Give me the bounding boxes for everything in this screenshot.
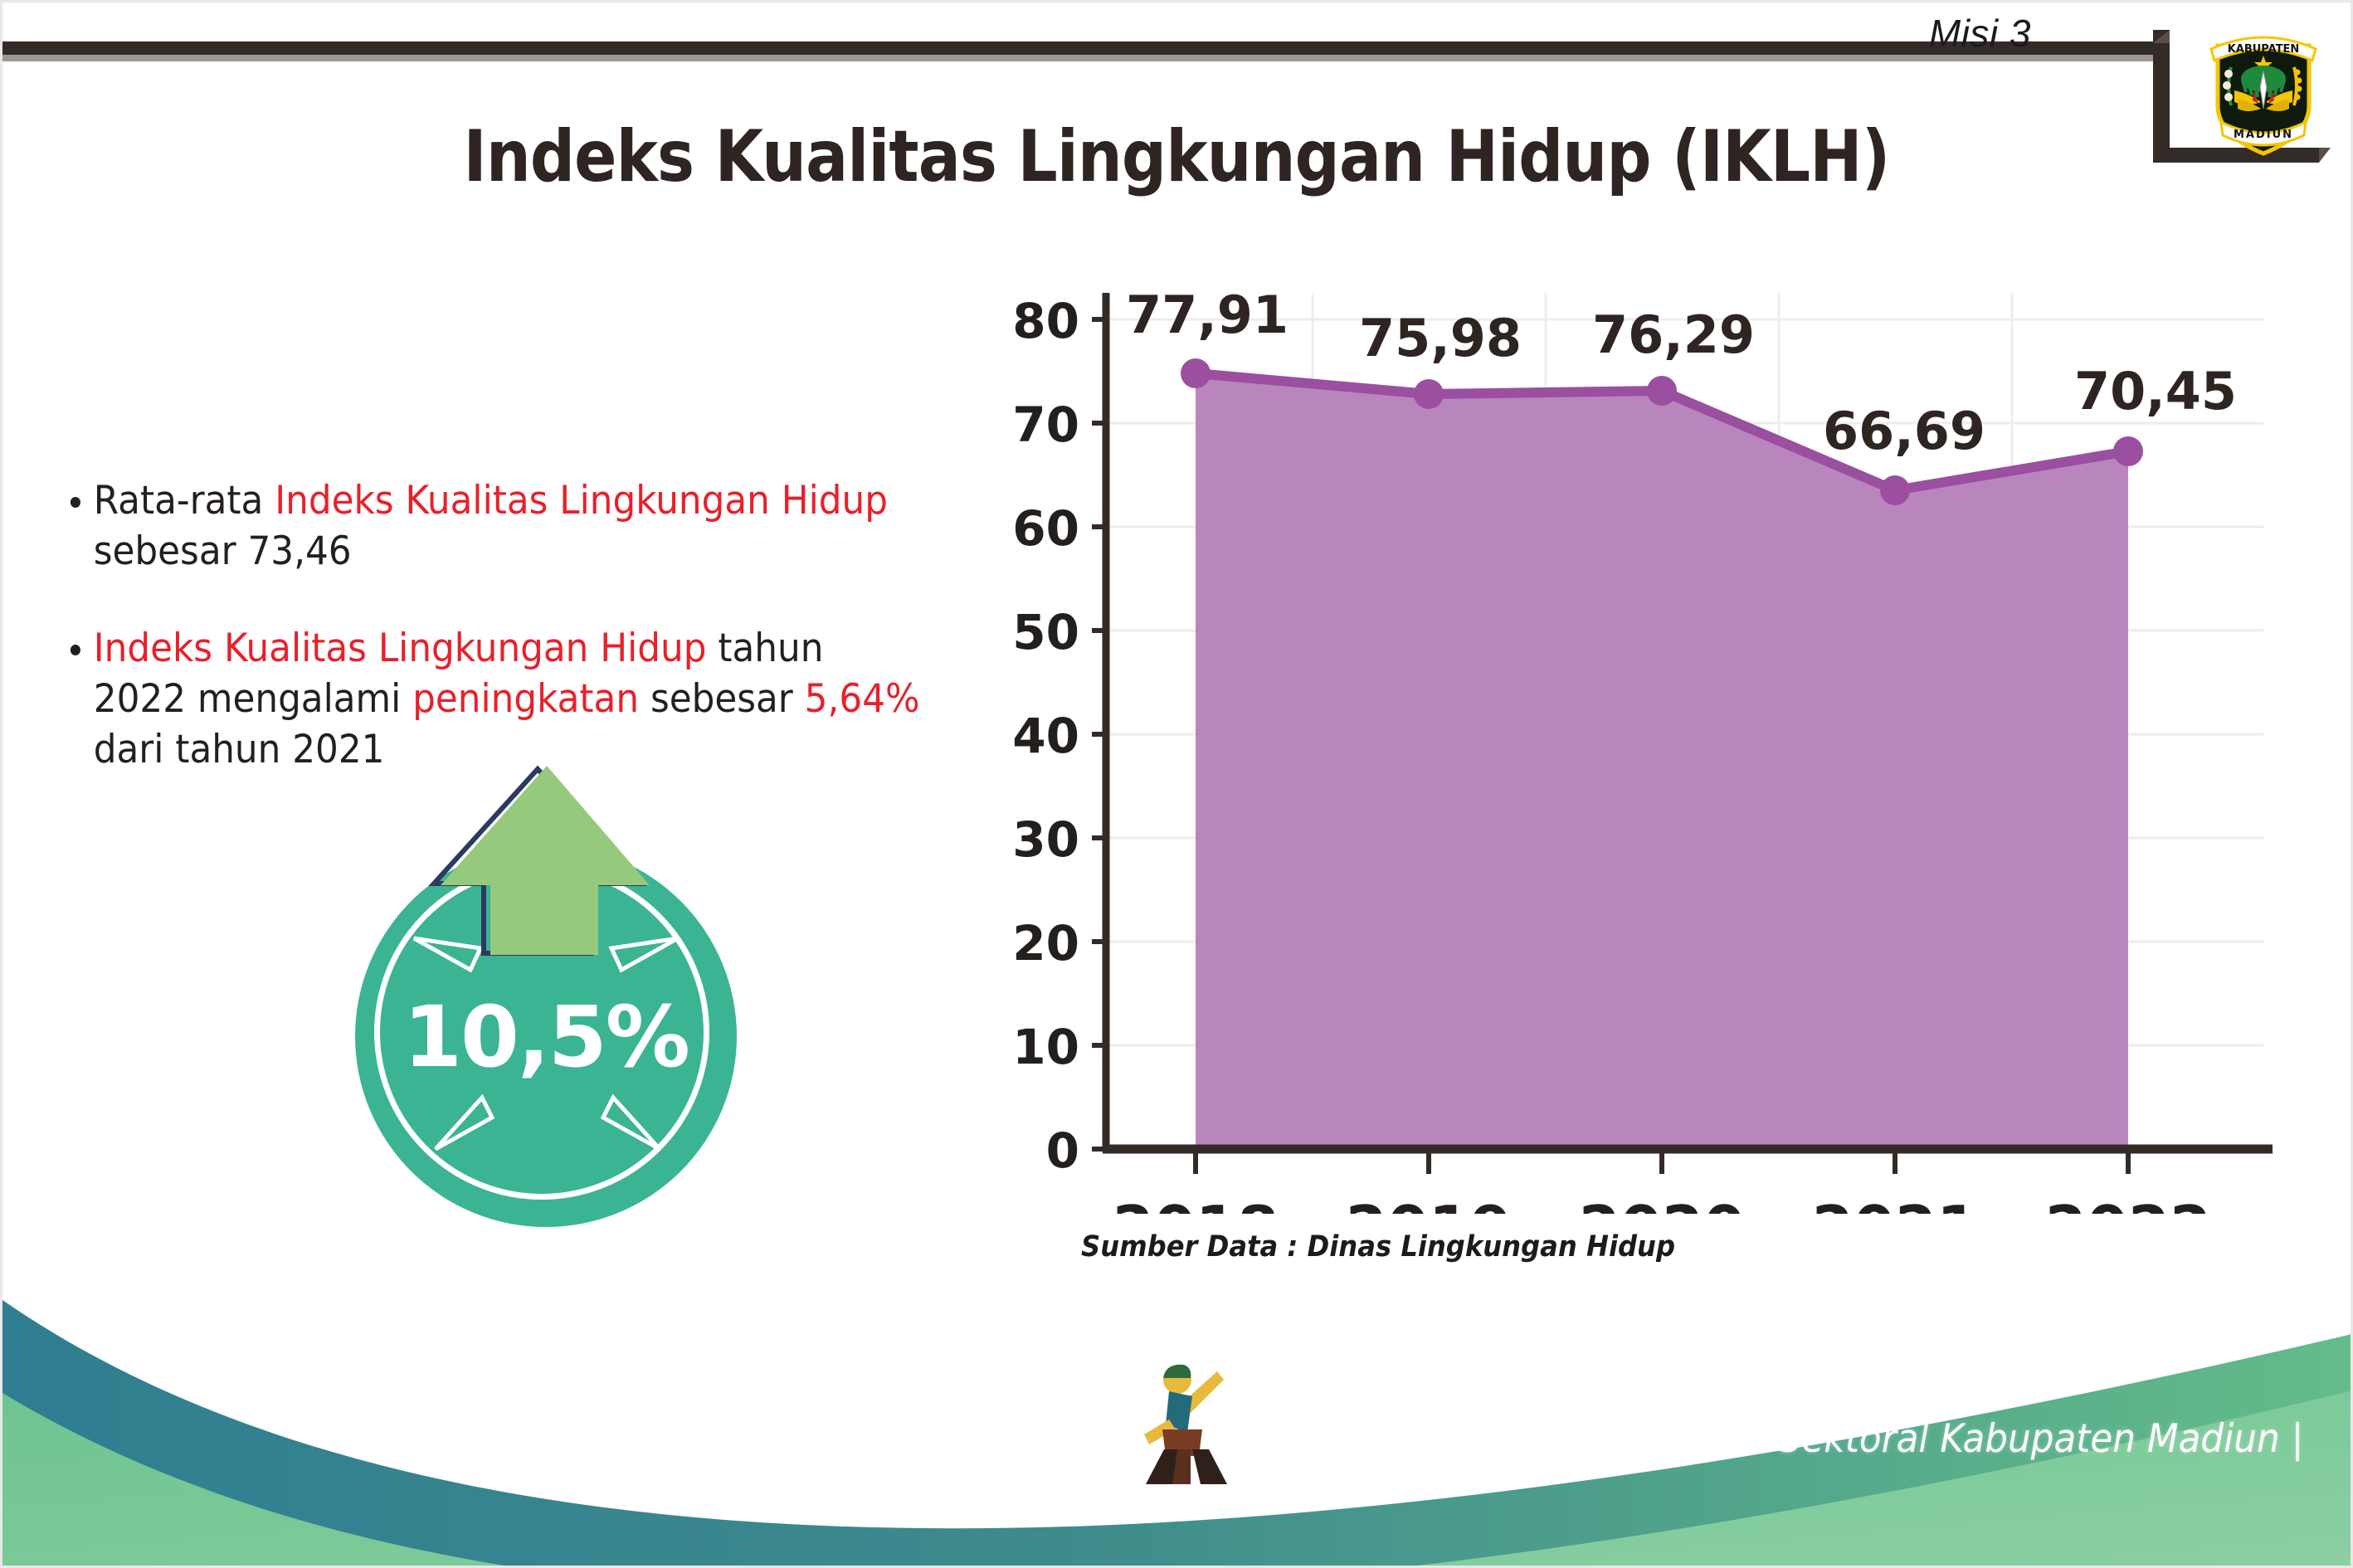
logo-bracket-vertical-bevel bbox=[2153, 30, 2170, 43]
infographic-slide: Misi 3 KABUPATEN bbox=[0, 0, 2353, 1568]
bullet-item-1: Rata-rata Indeks Kualitas Lingkungan Hid… bbox=[69, 475, 925, 577]
bullet-dot bbox=[71, 497, 80, 508]
y-tick-label: 20 bbox=[1012, 915, 1079, 971]
value-label: 76,29 bbox=[1592, 304, 1755, 365]
badge-percent-label: 10,5% bbox=[355, 988, 737, 1087]
kabupaten-madiun-crest-icon: KABUPATEN MADIUN bbox=[2201, 19, 2326, 160]
bullet-dot bbox=[71, 645, 80, 655]
page-title: Indeks Kualitas Lingkungan Hidup (IKLH) bbox=[144, 115, 2209, 198]
footer: Media Infografis Data Statistik Sektoral… bbox=[2, 1209, 2353, 1566]
y-tick-label: 50 bbox=[1012, 604, 1079, 660]
y-tick-label: 0 bbox=[1046, 1122, 1079, 1179]
bullet-1-seg-2: Indeks Kualitas Lingkungan Hidup bbox=[275, 478, 888, 523]
header-rule bbox=[2, 41, 2166, 55]
mission-label: Misi 3 bbox=[1929, 11, 2031, 56]
bullet-item-2: Indeks Kualitas Lingkungan Hidup tahun 2… bbox=[69, 623, 925, 775]
bullet-1-seg-1: Rata-rata bbox=[94, 478, 275, 523]
value-label: 70,45 bbox=[2074, 361, 2237, 421]
bullet-1-seg-3: sebesar 73,46 bbox=[94, 528, 352, 574]
y-tick-label: 10 bbox=[1012, 1019, 1079, 1075]
increase-badge: 10,5% bbox=[334, 762, 766, 1227]
svg-text:KABUPATEN: KABUPATEN bbox=[2228, 43, 2300, 56]
bullet-2-seg-4: sebesar bbox=[639, 676, 805, 722]
chart-area-fill bbox=[1196, 373, 2128, 1149]
y-tick-label: 30 bbox=[1012, 811, 1079, 868]
value-label: 75,98 bbox=[1359, 308, 1522, 368]
value-label: 66,69 bbox=[1823, 401, 1985, 461]
iklh-area-chart: 80 70 60 50 40 30 20 10 0 77,91 75,98 76… bbox=[982, 276, 2276, 1214]
value-label: 77,91 bbox=[1126, 285, 1289, 345]
bullet-2-seg-5: 5,64% bbox=[805, 676, 920, 722]
header-rule-shadow bbox=[2, 55, 2166, 61]
chart-y-tick-labels: 80 70 60 50 40 30 20 10 0 bbox=[1012, 293, 1079, 1179]
bullet-2-seg-3: peningkatan bbox=[412, 676, 639, 722]
y-tick-label: 80 bbox=[1012, 293, 1079, 349]
y-tick-label: 40 bbox=[1012, 708, 1079, 764]
svg-text:MADIUN: MADIUN bbox=[2234, 129, 2293, 141]
y-tick-label: 60 bbox=[1012, 500, 1079, 557]
bullet-2-seg-1: Indeks Kualitas Lingkungan Hidup bbox=[94, 626, 707, 671]
footer-caption: Media Infografis Data Statistik Sektoral… bbox=[1218, 1416, 2303, 1462]
y-tick-label: 70 bbox=[1012, 397, 1079, 453]
